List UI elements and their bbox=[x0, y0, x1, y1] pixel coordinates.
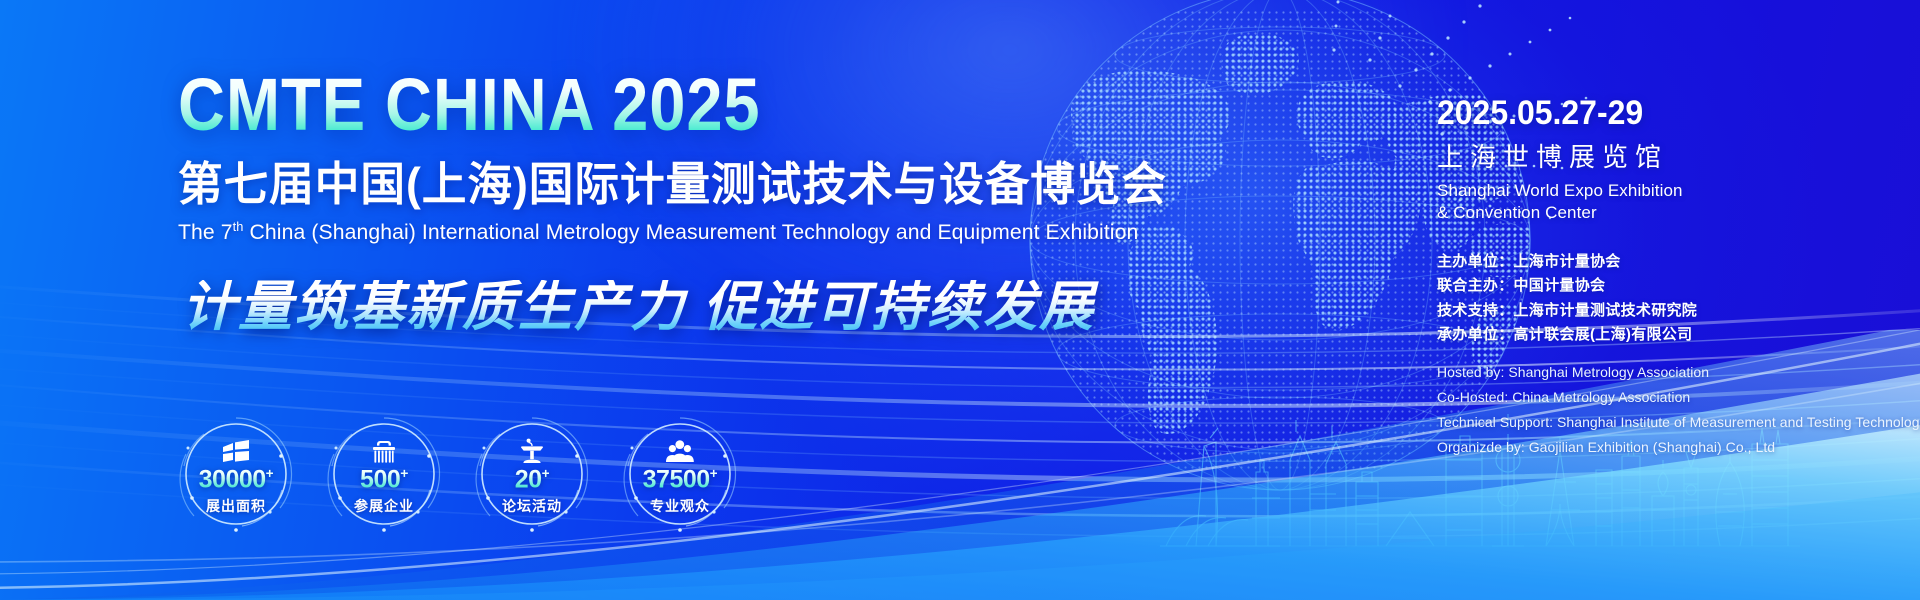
briefcase-icon bbox=[371, 434, 397, 464]
organizer-line: 承办单位：高计联会展(上海)有限公司 bbox=[1437, 323, 1907, 347]
event-title-english: The 7th China (Shanghai) International M… bbox=[178, 219, 1301, 246]
event-title-chinese: 第七届中国(上海)国际计量测试技术与设备博览会 bbox=[178, 160, 1284, 210]
stat-badge-visitors[interactable]: 37500+ 专业观众 bbox=[624, 418, 736, 530]
event-title-english-rest: China (Shanghai) International Metrology… bbox=[244, 220, 1139, 244]
organizers-english: Hosted by: Shanghai Metrology Associatio… bbox=[1437, 360, 1907, 460]
organizer-line-en: Co-Hosted: China Metrology Association bbox=[1437, 385, 1907, 410]
organizer-line: 技术支持：上海市计量测试技术研究院 bbox=[1437, 299, 1907, 323]
statistics-row: 30000+ 展出面积 bbox=[180, 418, 736, 530]
venue-name-chinese: 上海世博展览馆 bbox=[1437, 144, 1907, 170]
venue-english-line-1: Shanghai World Expo Exhibition bbox=[1437, 180, 1907, 202]
organizer-line-en: Technical Support: Shanghai Institute of… bbox=[1437, 410, 1907, 435]
event-info-panel: 2025.05.27-29 上海世博展览馆 Shanghai World Exp… bbox=[1437, 96, 1907, 460]
stat-number: 500+ bbox=[360, 466, 408, 492]
ordinal-suffix: th bbox=[233, 219, 244, 234]
grid-panels-icon bbox=[221, 434, 251, 464]
stat-number: 20+ bbox=[515, 466, 550, 492]
stat-label: 参展企业 bbox=[354, 496, 414, 516]
event-date: 2025.05.27-29 bbox=[1437, 96, 1879, 130]
stat-label: 展出面积 bbox=[206, 496, 266, 516]
stat-number: 37500+ bbox=[643, 466, 718, 492]
stat-badge-exhibitors[interactable]: 500+ 参展企业 bbox=[328, 418, 440, 530]
stat-badge-exhibition-area[interactable]: 30000+ 展出面积 bbox=[180, 418, 292, 530]
event-banner: CMTE CHINA 2025 第七届中国(上海)国际计量测试技术与设备博览会 … bbox=[0, 0, 1920, 600]
event-title-english-prefix: The 7 bbox=[178, 220, 233, 244]
stat-label: 专业观众 bbox=[650, 496, 710, 516]
organizer-line: 联合主办：中国计量协会 bbox=[1437, 274, 1907, 298]
event-slogan: 计量筑基新质生产力 促进可持续发展 bbox=[182, 280, 1318, 334]
stat-badge-forums[interactable]: 20+ 论坛活动 bbox=[476, 418, 588, 530]
podium-icon bbox=[519, 434, 545, 464]
headline-block: CMTE CHINA 2025 第七届中国(上海)国际计量测试技术与设备博览会 … bbox=[178, 68, 1318, 334]
people-icon bbox=[665, 434, 695, 464]
organizer-line-en: Hosted by: Shanghai Metrology Associatio… bbox=[1437, 360, 1907, 385]
organizers-chinese: 主办单位：上海市计量协会 联合主办：中国计量协会 技术支持：上海市计量测试技术研… bbox=[1437, 250, 1907, 347]
organizer-line: 主办单位：上海市计量协会 bbox=[1437, 250, 1907, 274]
venue-english-line-2: & Convention Center bbox=[1437, 202, 1907, 224]
venue-name-english: Shanghai World Expo Exhibition & Convent… bbox=[1437, 180, 1907, 224]
stat-label: 论坛活动 bbox=[502, 496, 562, 516]
organizer-line-en: Organizde by: Gaojilian Exhibition (Shan… bbox=[1437, 435, 1907, 460]
stat-number: 30000+ bbox=[199, 466, 274, 492]
event-title: CMTE CHINA 2025 bbox=[178, 68, 1181, 142]
